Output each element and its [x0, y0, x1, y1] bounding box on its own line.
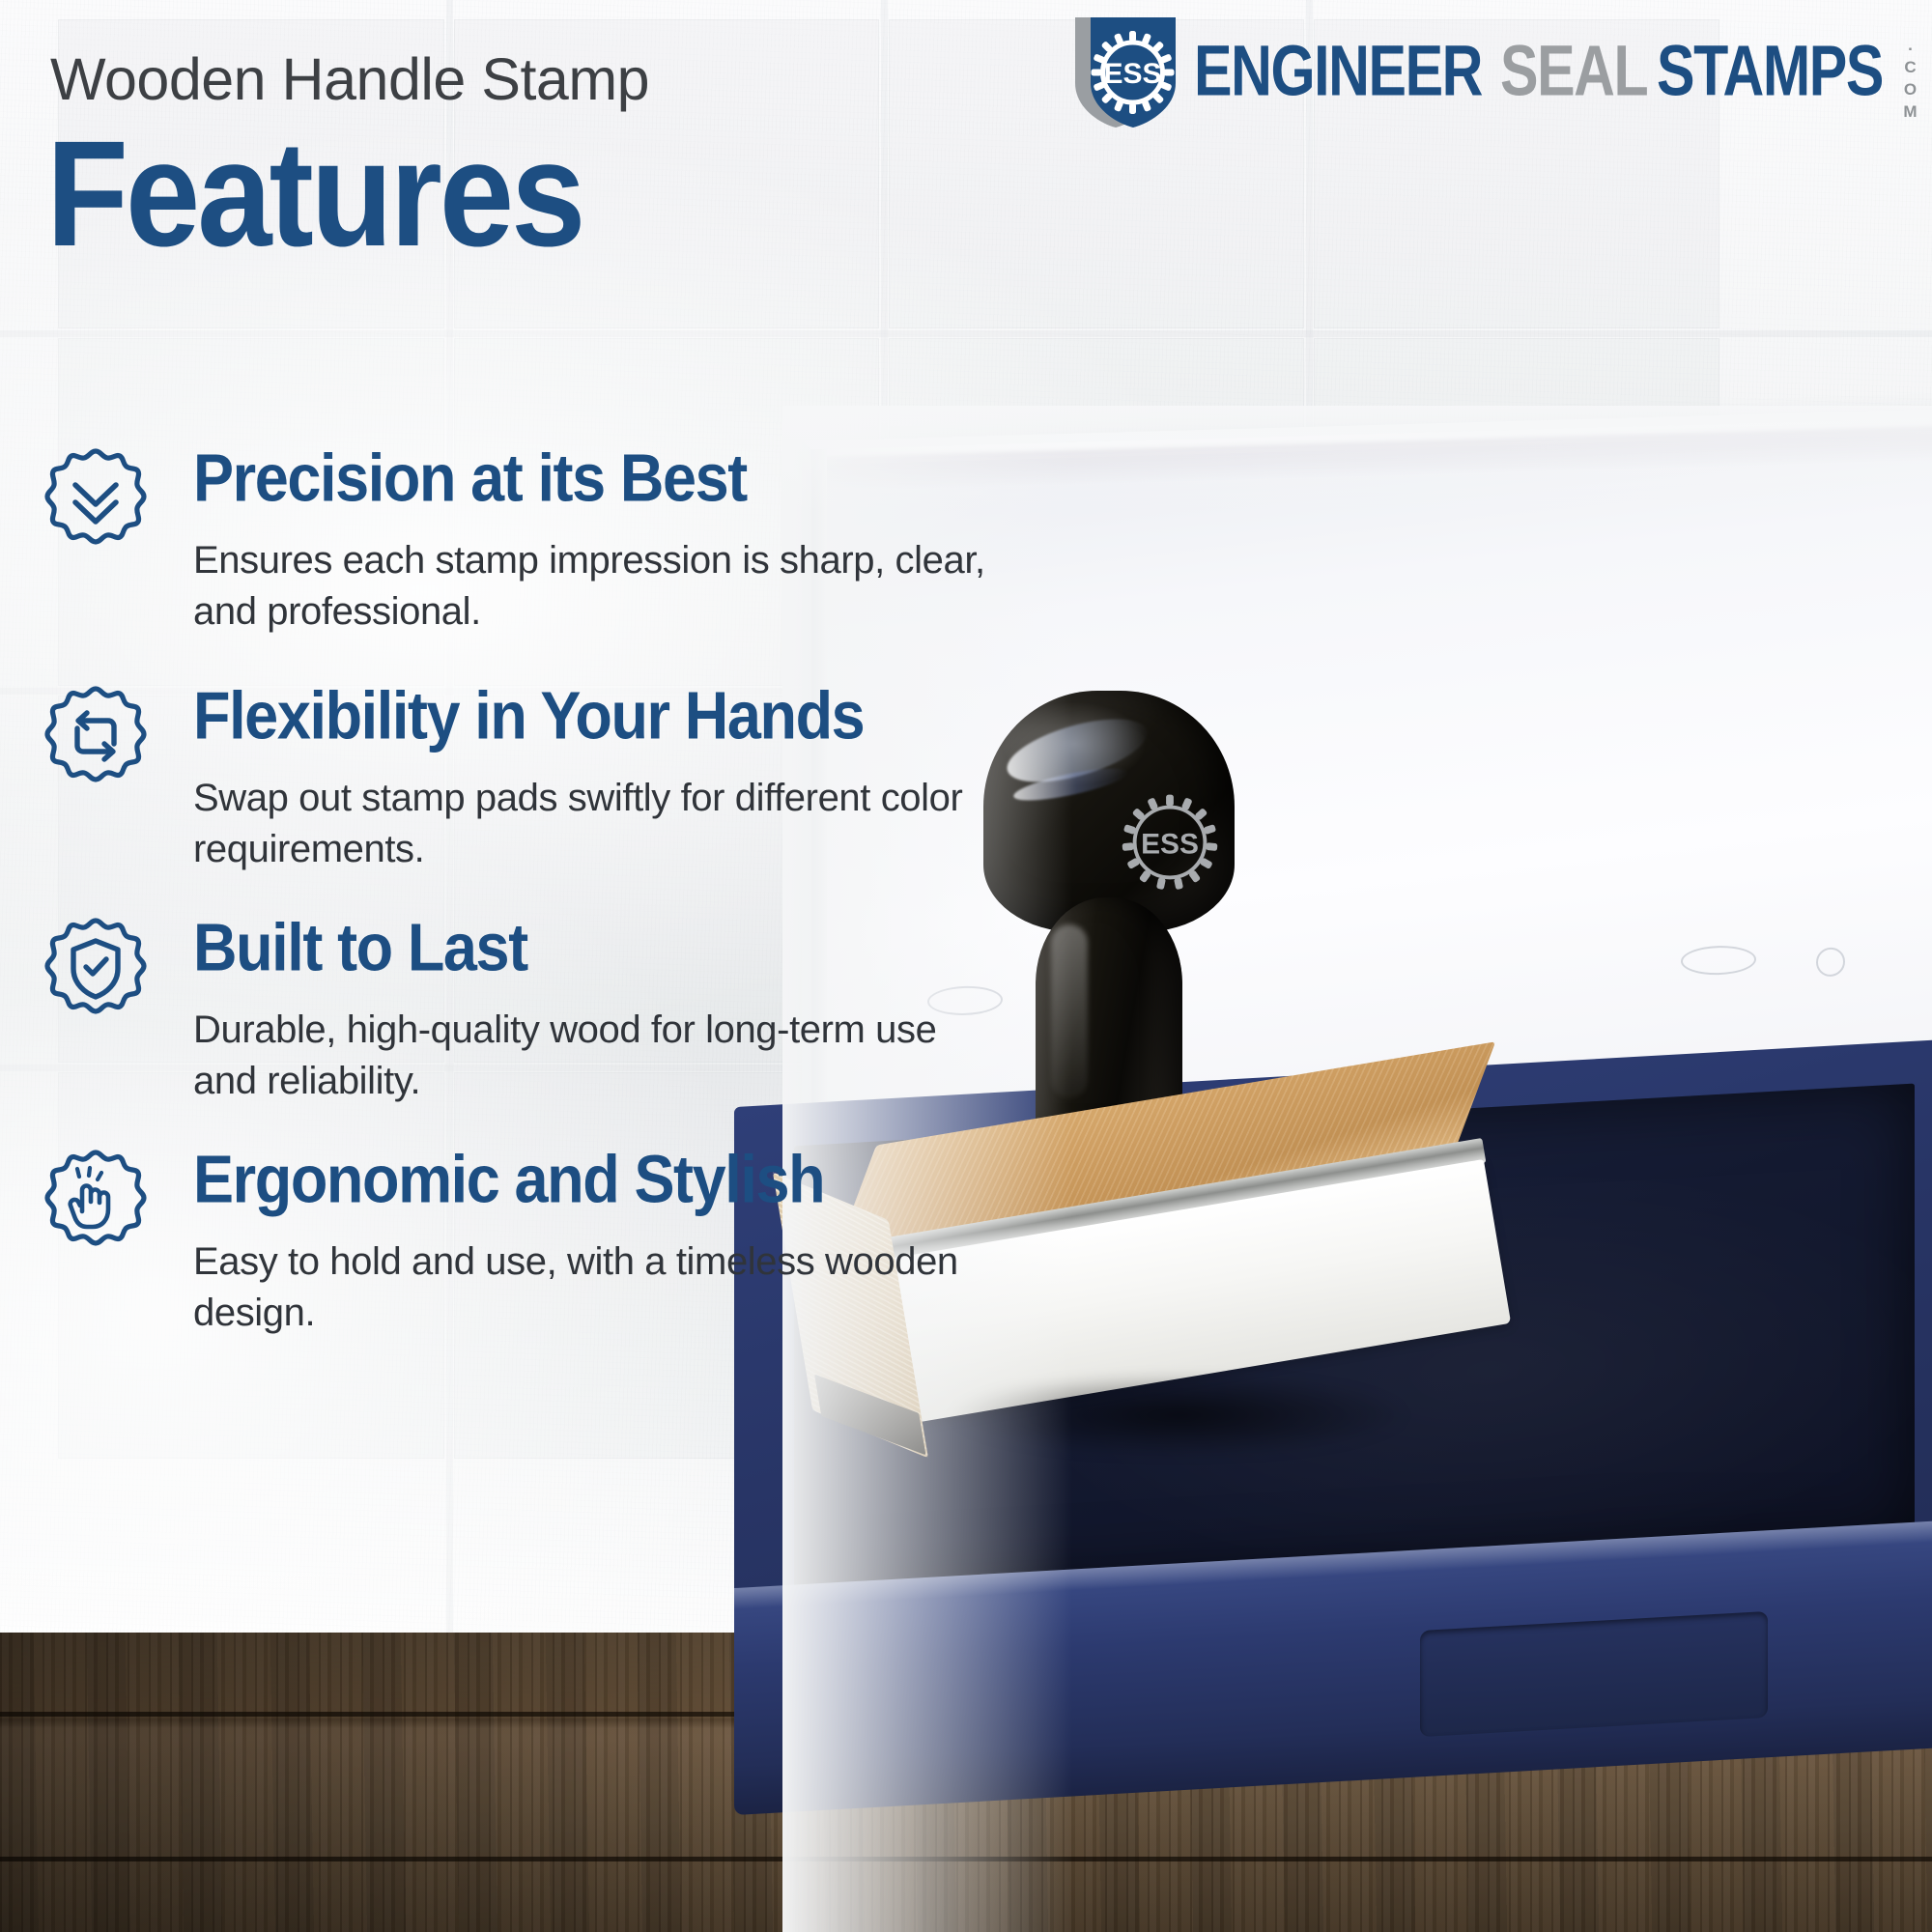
shield-check-badge-icon — [39, 916, 153, 1030]
feature-body: Ensures each stamp impression is sharp, … — [193, 535, 995, 638]
feature-heading: Flexibility in Your Hands — [193, 682, 1014, 751]
feature-item: Built to Last Durable, high-quality wood… — [39, 914, 1014, 1107]
feature-item: Flexibility in Your Hands Swap out stamp… — [39, 682, 1014, 875]
swap-arrows-badge-icon — [39, 684, 153, 798]
tap-hand-badge-icon — [39, 1148, 153, 1262]
feature-item: Precision at its Best Ensures each stamp… — [39, 444, 1014, 638]
logo-word-stamps: STAMPS — [1657, 13, 1883, 107]
ess-badge-text: ESS — [1104, 58, 1162, 90]
case-thumb-notch — [1420, 1611, 1768, 1737]
brand-logo[interactable]: ESS ENGINEER SEAL STAMPS .COM — [1067, 12, 1918, 132]
feature-body: Easy to hold and use, with a timeless wo… — [193, 1236, 995, 1339]
ess-gear-icon: ESS — [1107, 780, 1233, 905]
stamp-handle: ESS — [983, 691, 1235, 1135]
logo-word-engineer: ENGINEER — [1194, 13, 1482, 107]
feature-item: Ergonomic and Stylish Easy to hold and u… — [39, 1146, 1014, 1339]
logo-word-com: .COM — [1902, 36, 1918, 125]
feature-list: Precision at its Best Ensures each stamp… — [39, 437, 1014, 1373]
feature-heading: Precision at its Best — [193, 444, 1014, 513]
feature-heading: Ergonomic and Stylish — [193, 1146, 1014, 1214]
page-subtitle: Wooden Handle Stamp — [50, 45, 649, 113]
infographic-canvas: ESS Wooden Handle Stamp Features — [0, 0, 1932, 1932]
feature-body: Durable, high-quality wood for long-term… — [193, 1005, 995, 1107]
ess-handle-text: ESS — [1141, 829, 1199, 861]
page-title: Features — [46, 119, 582, 270]
logo-word-seal: SEAL — [1500, 13, 1647, 107]
feature-body: Swap out stamp pads swiftly for differen… — [193, 773, 995, 875]
feature-heading: Built to Last — [193, 914, 1014, 982]
chevrons-down-badge-icon — [39, 446, 153, 560]
ess-shield-gear-logo: ESS — [1067, 12, 1188, 132]
